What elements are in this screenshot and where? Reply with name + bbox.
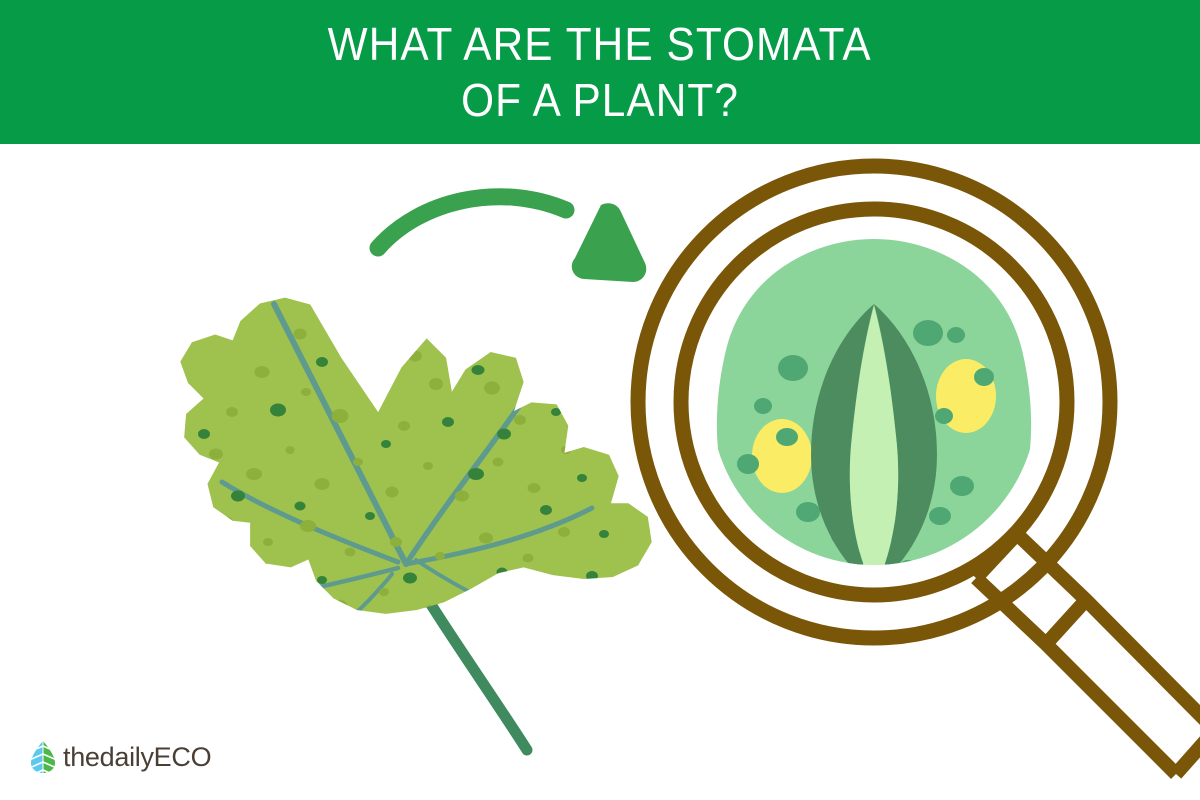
page-title-line-1: WHAT ARE THE STOMATA [328, 16, 872, 72]
site-logo-text: thedailyECO [63, 744, 211, 771]
curved-arrow-icon [378, 197, 646, 282]
illustration-area [0, 144, 1200, 800]
leaf-illustration [156, 298, 652, 750]
magnifying-glass-illustration [638, 166, 1200, 774]
header-banner: WHAT ARE THE STOMATA OF A PLANT? [0, 0, 1200, 144]
site-logo[interactable]: thedailyECO [30, 740, 211, 774]
magnifier-handle [976, 534, 1200, 774]
leaf-blade [180, 298, 651, 614]
leaf-droplet-logo-icon [30, 740, 56, 774]
infographic-page: WHAT ARE THE STOMATA OF A PLANT? [0, 0, 1200, 800]
page-title-line-2: OF A PLANT? [461, 72, 739, 128]
